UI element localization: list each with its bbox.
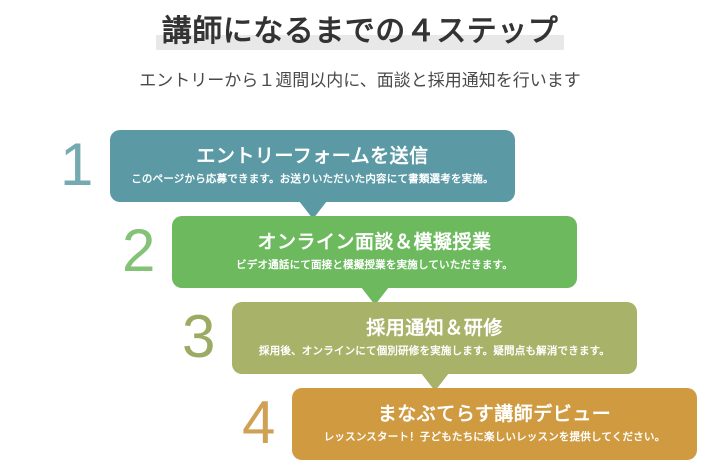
steps-container: 1エントリーフォームを送信このページから応募できます。お送りいただいた内容にて書…: [0, 0, 720, 475]
step-box-3[interactable]: 採用通知＆研修採用後、オンラインにて個別研修を実施します。疑問点も解消できます。: [232, 302, 637, 374]
step-number-2: 2: [122, 221, 155, 281]
step-description-3: 採用後、オンラインにて個別研修を実施します。疑問点も解消できます。: [259, 344, 610, 359]
step-title-4: まなぶてらす講師デビュー: [378, 403, 612, 427]
step-description-2: ビデオ通話にて面接と模擬授業を実施していただきます。: [236, 258, 513, 273]
step-3: 3採用通知＆研修採用後、オンラインにて個別研修を実施します。疑問点も解消できます…: [0, 302, 720, 374]
step-4: 4まなぶてらす講師デビューレッスンスタート！子どもたちに楽しいレッスンを提供して…: [0, 388, 720, 460]
step-box-1[interactable]: エントリーフォームを送信このページから応募できます。お送りいただいた内容にて書類…: [110, 130, 515, 202]
step-number-4: 4: [242, 393, 275, 453]
step-title-1: エントリーフォームを送信: [196, 145, 428, 169]
step-number-1: 1: [60, 135, 93, 195]
page-title-text: 講師になるまでの４ステップ: [162, 15, 559, 48]
step-description-1: このページから応募できます。お送りいただいた内容にて書類選考を実施。: [131, 172, 494, 187]
step-description-4: レッスンスタート！子どもたちに楽しいレッスンを提供してください。: [324, 430, 666, 445]
step-title-3: 採用通知＆研修: [366, 317, 503, 341]
step-1: 1エントリーフォームを送信このページから応募できます。お送りいただいた内容にて書…: [0, 130, 720, 202]
page-title-highlight: 講師になるまでの４ステップ: [156, 12, 565, 52]
step-box-2[interactable]: オンライン面談＆模擬授業ビデオ通話にて面接と模擬授業を実施していただきます。: [172, 216, 577, 288]
infographic-root: 講師になるまでの４ステップ エントリーから１週間以内に、面談と採用通知を行います…: [0, 0, 720, 475]
step-title-2: オンライン面談＆模擬授業: [257, 231, 491, 255]
step-box-4[interactable]: まなぶてらす講師デビューレッスンスタート！子どもたちに楽しいレッスンを提供してく…: [292, 388, 697, 460]
step-number-3: 3: [182, 307, 215, 367]
step-2: 2オンライン面談＆模擬授業ビデオ通話にて面接と模擬授業を実施していただきます。: [0, 216, 720, 288]
